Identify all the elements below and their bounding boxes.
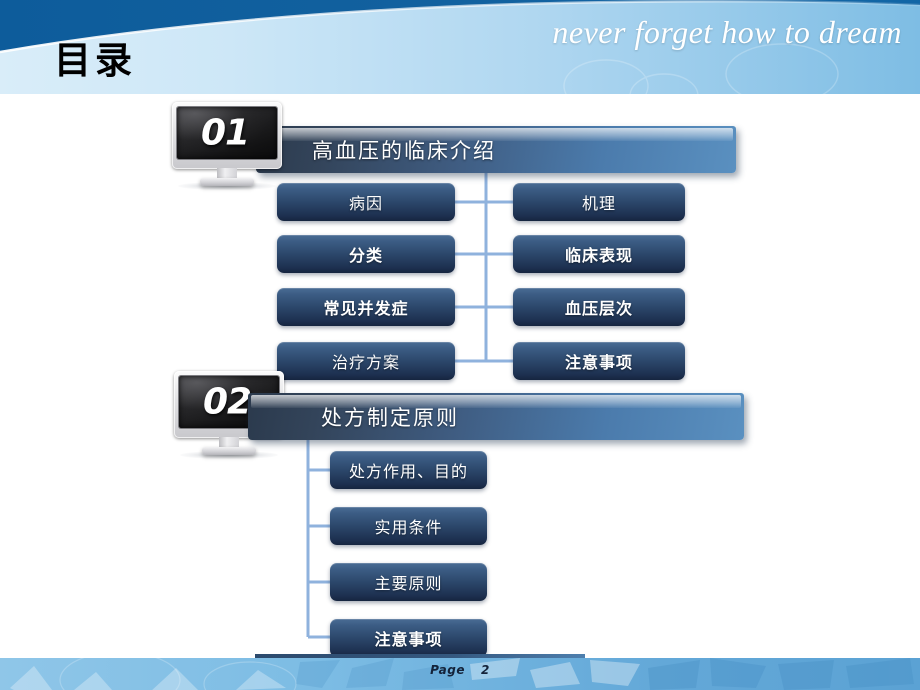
section-number-01: 01: [177, 113, 273, 154]
section-banner-01[interactable]: 高血压的临床介绍: [256, 126, 736, 173]
page-label: Page: [430, 663, 465, 677]
page-value: 2: [481, 663, 490, 677]
monitor-base-01: [200, 178, 254, 186]
monitor-screen-01: 01: [177, 107, 277, 159]
node-button-xueyacengci[interactable]: 血压层次: [513, 288, 685, 326]
section-banner-01-label: 高血压的临床介绍: [312, 135, 496, 165]
slide-canvas: never forget how to dream 目录 高血压的临床介绍: [0, 0, 920, 690]
node-button-zhuyishixiang-1[interactable]: 注意事项: [513, 342, 685, 380]
node-button-zhiliaofangan[interactable]: 治疗方案: [277, 342, 455, 380]
section-banner-02-label: 处方制定原则: [321, 402, 459, 432]
section-badge-monitor-01: 01: [172, 102, 282, 188]
node-button-shiyongtiaojian[interactable]: 实用条件: [330, 507, 487, 545]
node-button-bingyin[interactable]: 病因: [277, 183, 455, 221]
header-tagline: never forget how to dream: [552, 14, 902, 51]
node-button-linchuangbiaoxian[interactable]: 临床表现: [513, 235, 685, 273]
slide-header: never forget how to dream 目录: [0, 0, 920, 94]
section-banner-02[interactable]: 处方制定原则: [248, 393, 744, 440]
node-button-zhuyishixiang-2[interactable]: 注意事项: [330, 619, 487, 657]
monitor-base-02: [202, 447, 256, 455]
node-button-changjianbingfazheng[interactable]: 常见并发症: [277, 288, 455, 326]
node-button-jili[interactable]: 机理: [513, 183, 685, 221]
page-title: 目录: [54, 42, 136, 79]
node-button-fenlei[interactable]: 分类: [277, 235, 455, 273]
node-button-zhuyaoyuanze[interactable]: 主要原则: [330, 563, 487, 601]
page-number-footer: Page2: [0, 663, 920, 677]
node-button-chufangzuoyongmudi[interactable]: 处方作用、目的: [330, 451, 487, 489]
